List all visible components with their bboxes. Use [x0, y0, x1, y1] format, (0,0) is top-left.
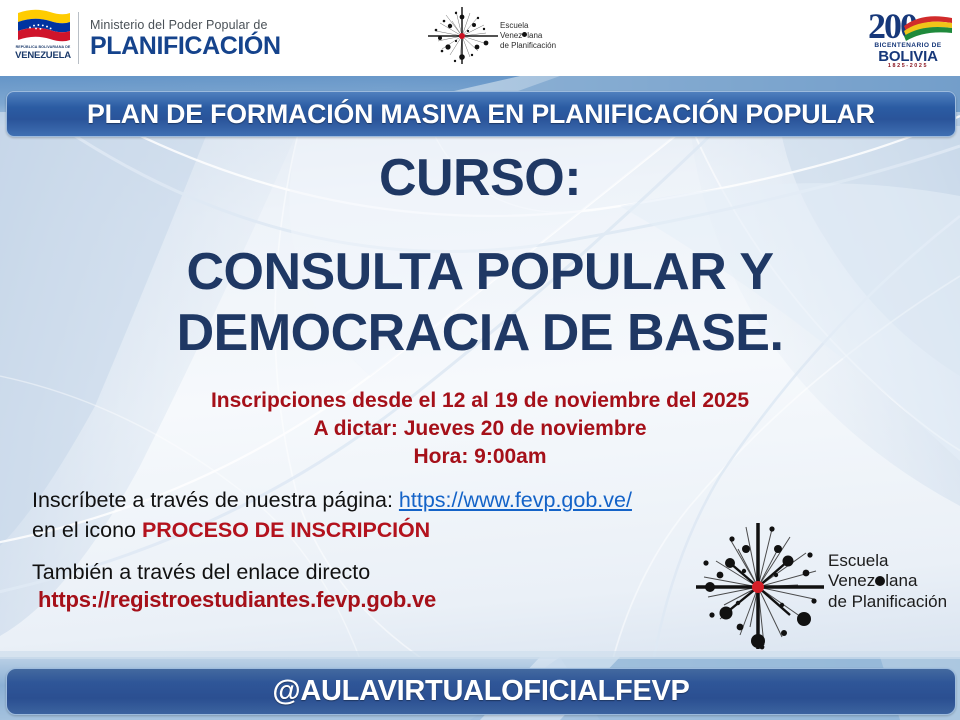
curso-label: CURSO:: [0, 152, 960, 204]
header-divider: [78, 12, 79, 64]
main-title-banner-text: PLAN DE FORMACIÓN MASIVA EN PLANIFICACIÓ…: [87, 99, 875, 130]
proceso-inscripcion-emphasis: PROCESO DE INSCRIPCIÓN: [142, 518, 430, 542]
class-date: A dictar: Jueves 20 de noviembre: [0, 415, 960, 443]
ministry-logo: REPÚBLICA BOLIVARIANA DE VENEZUELA Minis…: [6, 4, 266, 72]
course-title: CONSULTA POPULAR Y DEMOCRACIA DE BASE.: [0, 242, 960, 365]
instruction-line-1: Inscríbete a través de nuestra página: h…: [32, 486, 960, 515]
direct-link-block: También a través del enlace directo http…: [32, 558, 960, 613]
enrollment-dates: Inscripciones desde el 12 al 19 de novie…: [0, 387, 960, 415]
course-title-line-1: CONSULTA POPULAR Y: [30, 242, 930, 303]
schedule-block: Inscripciones desde el 12 al 19 de novie…: [0, 387, 960, 471]
evp-header-logo: Escuela Venezlana de Planificación: [420, 5, 570, 67]
registro-estudiantes-link[interactable]: https://registroestudiantes.fevp.gob.ve: [32, 587, 960, 613]
flag-caption-venezuela: VENEZUELA: [12, 51, 74, 61]
bicentenario-bolivia-logo: 200 BICENTENARIO DE BOLIVIA 1825-2025: [860, 4, 956, 68]
instruction-line-1-prefix: Inscríbete a través de nuestra página:: [32, 488, 399, 512]
venezuela-flag-icon: REPÚBLICA BOLIVARIANA DE VENEZUELA: [10, 6, 74, 72]
footer-handle-text: @AULAVIRTUALOFICIALFEVP: [272, 675, 689, 708]
instruction-line-3: También a través del enlace directo: [32, 558, 960, 587]
bicentenario-200-icon: 200: [860, 4, 956, 46]
evp-header-line2-b: lana: [527, 31, 542, 40]
evp-header-line2-a: Venez: [500, 31, 522, 40]
evp-header-line3: de Planificación: [500, 41, 556, 51]
instruction-line-2: en el icono PROCESO DE INSCRIPCIÓN: [32, 516, 960, 545]
evp-header-line2: Venezlana: [500, 31, 556, 41]
header-bar: REPÚBLICA BOLIVARIANA DE VENEZUELA Minis…: [0, 0, 960, 76]
evp-header-line1: Escuela: [500, 21, 556, 31]
evp-header-logo-text: Escuela Venezlana de Planificación: [500, 21, 556, 50]
registration-instructions: Inscríbete a través de nuestra página: h…: [0, 486, 960, 613]
main-content: CURSO: CONSULTA POPULAR Y DEMOCRACIA DE …: [0, 140, 960, 613]
ministry-title: PLANIFICACIÓN: [90, 32, 281, 61]
bicentenario-line3: 1825-2025: [860, 63, 956, 69]
fevp-page-link[interactable]: https://www.fevp.gob.ve/: [399, 488, 632, 512]
footer-handle-banner: @AULAVIRTUALOFICIALFEVP: [6, 668, 956, 715]
course-title-line-2: DEMOCRACIA DE BASE.: [30, 303, 930, 364]
class-time: Hora: 9:00am: [0, 443, 960, 471]
instruction-line-2-prefix: en el icono: [32, 518, 142, 542]
main-title-banner: PLAN DE FORMACIÓN MASIVA EN PLANIFICACIÓ…: [6, 91, 956, 137]
slide-canvas: PLAN DE FORMACIÓN MASIVA EN PLANIFICACIÓ…: [0, 0, 960, 720]
ministry-subtitle: Ministerio del Poder Popular de: [90, 18, 268, 32]
